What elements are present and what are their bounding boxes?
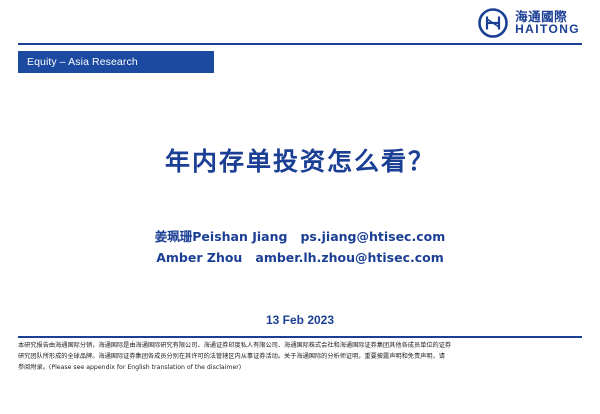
disclaimer-line-1: 本研究报告由海通国际分销，海通国际是由海通国际研究有限公司、海通证券印度私人有限… (18, 341, 584, 352)
disclaimer-text: 本研究报告由海通国际分销，海通国际是由海通国际研究有限公司、海通证券印度私人有限… (18, 341, 584, 374)
author-line-2: Amber Zhou amber.lh.zhou@htisec.com (0, 248, 600, 269)
footer-divider (18, 336, 582, 338)
author-block: 姜珮珊Peishan Jiang ps.jiang@htisec.com Amb… (0, 227, 600, 268)
page-title: 年内存单投资怎么看？ (0, 142, 600, 178)
disclaimer-line-2: 研究团队所形成的全球品牌。海通国际证券集团各成员分别在其许可的法管辖区内从事证券… (18, 352, 584, 363)
header-divider (18, 43, 582, 45)
publication-date: 13 Feb 2023 (0, 313, 600, 327)
research-category-banner: Equity – Asia Research (18, 51, 214, 73)
haitong-logo: 海通國際 HAITONG (478, 8, 580, 38)
presentation-cover-slide: 海通國際 HAITONG Equity – Asia Research 年内存单… (0, 0, 600, 414)
disclaimer-line-3: 参阅附录。(Please see appendix for English tr… (18, 363, 584, 374)
haitong-circle-logo-icon (478, 8, 508, 38)
author-line-1: 姜珮珊Peishan Jiang ps.jiang@htisec.com (0, 227, 600, 248)
logo-wordmark: 海通國際 HAITONG (515, 10, 580, 36)
banner-label: Equity – Asia Research (18, 56, 138, 68)
logo-english-text: HAITONG (515, 23, 580, 36)
